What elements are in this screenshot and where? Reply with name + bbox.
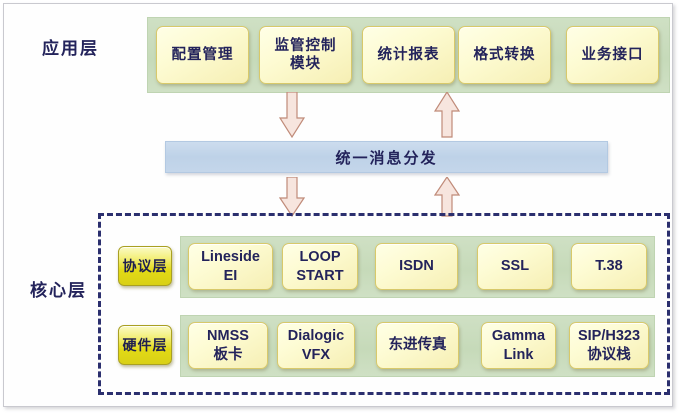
bus-to-core-arrow <box>279 177 305 217</box>
hardware-box-dongjin-fax[interactable]: 东进传真 <box>376 322 459 369</box>
proto-box-ssl[interactable]: SSL <box>477 243 553 290</box>
proto-box-lineside-ei[interactable]: Lineside EI <box>188 243 273 290</box>
core-layer-caption: 核心层 <box>30 276 87 301</box>
app-to-bus-arrow <box>279 92 305 138</box>
app-box-statistics-report[interactable]: 统计报表 <box>362 26 455 84</box>
app-box-supervision-control-module[interactable]: 监管控制 模块 <box>259 26 352 84</box>
proto-box-isdn[interactable]: ISDN <box>375 243 458 290</box>
hardware-box-nmss-card[interactable]: NMSS 板卡 <box>188 322 268 369</box>
core-to-bus-arrow <box>434 177 460 217</box>
architecture-diagram: 应用层 核心层 配置管理 监管控制 模块 统计报表 格式转换 业务接口 统一消息… <box>0 0 679 414</box>
app-box-format-conversion[interactable]: 格式转换 <box>458 26 551 84</box>
app-box-config-management[interactable]: 配置管理 <box>156 26 249 84</box>
app-box-business-interface[interactable]: 业务接口 <box>566 26 659 84</box>
hardware-box-dialogic-vfx[interactable]: Dialogic VFX <box>277 322 355 369</box>
proto-box-loop-start[interactable]: LOOP START <box>282 243 358 290</box>
hardware-box-gamma-link[interactable]: Gamma Link <box>481 322 556 369</box>
hardware-layer-badge: 硬件层 <box>118 325 172 365</box>
unified-message-dispatch-bar[interactable]: 统一消息分发 <box>165 141 608 173</box>
bus-to-app-arrow <box>434 92 460 138</box>
protocol-layer-badge: 协议层 <box>118 246 172 286</box>
hardware-box-sip-h323-stack[interactable]: SIP/H323 协议栈 <box>569 322 649 369</box>
application-layer-caption: 应用层 <box>42 34 99 59</box>
proto-box-t38[interactable]: T.38 <box>571 243 647 290</box>
